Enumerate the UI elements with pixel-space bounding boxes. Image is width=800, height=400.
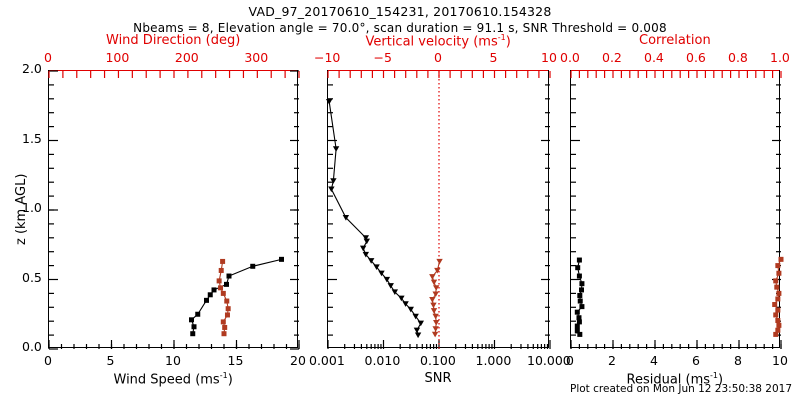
panel-snr [327, 70, 549, 348]
top-tick-1-300: 300 [244, 50, 268, 65]
y-tick-0.0: 0.0 [22, 339, 42, 354]
y-tick-2.0: 2.0 [22, 61, 42, 76]
panel-snr-plot-area [328, 71, 550, 349]
x-tick-2-0.001: 0.001 [309, 353, 345, 368]
top-tick-3-0.8: 0.8 [728, 50, 748, 65]
y-tick-0.5: 0.5 [22, 270, 42, 285]
x-tick-2-10.000: 10.000 [527, 353, 571, 368]
plot-title: VAD_97_20170610_154231, 20170610.154328 [0, 4, 800, 19]
y-tick-1.0: 1.0 [22, 200, 42, 215]
x-tick-3-8: 8 [734, 353, 742, 368]
top-axis-label-2: Vertical velocity (ms-1) [366, 33, 511, 49]
top-tick-2-10: 10 [541, 50, 557, 65]
x-tick-1-10: 10 [165, 353, 181, 368]
top-tick-2--5: −5 [374, 50, 392, 65]
x-axis-label-1: Wind Speed (ms-1) [114, 371, 233, 387]
top-tick-2-5: 5 [490, 50, 498, 65]
top-tick-3-0.2: 0.2 [602, 50, 622, 65]
x-tick-3-10: 10 [772, 353, 788, 368]
top-axis-label-1: Wind Direction (deg) [106, 33, 240, 48]
top-tick-1-100: 100 [105, 50, 129, 65]
panel-residual-plot-area [571, 71, 781, 349]
top-tick-1-200: 200 [175, 50, 199, 65]
panel-wind-plot-area [49, 71, 299, 349]
panel-residual [570, 70, 780, 348]
x-tick-3-4: 4 [650, 353, 658, 368]
x-tick-1-0: 0 [44, 353, 52, 368]
top-axis-label-3: Correlation [639, 33, 711, 48]
top-tick-2--10: −10 [314, 50, 340, 65]
x-tick-1-5: 5 [107, 353, 115, 368]
x-axis-label-2: SNR [425, 371, 452, 386]
top-tick-3-0.4: 0.4 [644, 50, 664, 65]
x-tick-2-0.100: 0.100 [420, 353, 456, 368]
x-tick-3-2: 2 [608, 353, 616, 368]
x-tick-1-20: 20 [290, 353, 306, 368]
top-tick-3-0.0: 0.0 [560, 50, 580, 65]
panel-wind [48, 70, 298, 348]
x-tick-2-1.000: 1.000 [476, 353, 512, 368]
x-tick-3-6: 6 [692, 353, 700, 368]
top-tick-3-1.0: 1.0 [770, 50, 790, 65]
x-tick-1-15: 15 [228, 353, 244, 368]
plot-credit: Plot created on Mon Jun 12 23:50:38 2017 [570, 383, 780, 395]
x-tick-2-0.010: 0.010 [365, 353, 401, 368]
y-tick-1.5: 1.5 [22, 131, 42, 146]
top-tick-3-0.6: 0.6 [686, 50, 706, 65]
top-tick-1-0: 0 [44, 50, 52, 65]
top-tick-2-0: 0 [434, 50, 442, 65]
x-tick-3-0: 0 [566, 353, 574, 368]
